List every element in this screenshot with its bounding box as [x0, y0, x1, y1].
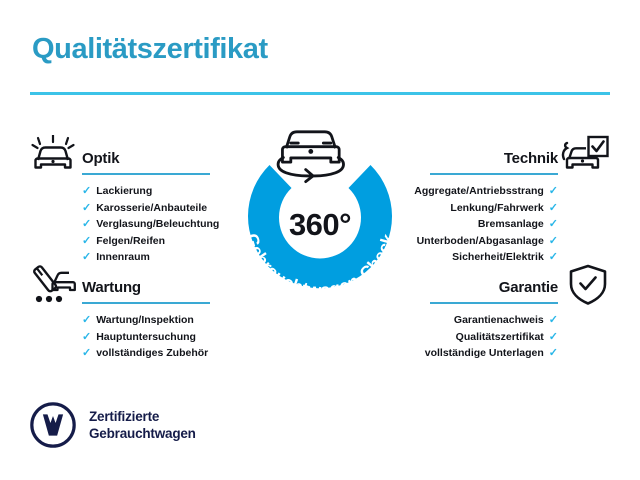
footer-line-1: Zertifizierte: [89, 408, 196, 425]
footer-branding: Zertifizierte Gebrauchtwagen: [30, 402, 196, 448]
checklist-technik: Aggregate/Antriebsstrang✓ Lenkung/Fahrwe…: [430, 183, 558, 266]
checklist-wartung: ✓Wartung/Inspektion ✓Hauptuntersuchung ✓…: [82, 312, 210, 362]
list-item-label: Bremsanlage: [478, 216, 544, 233]
list-item-label: Qualitätszertifikat: [456, 329, 544, 346]
section-garantie: Garantie Garantienachweis✓ Qualitätszert…: [430, 262, 610, 362]
certificate-page: Qualitätszertifikat Optik ✓Lacki: [0, 0, 640, 480]
list-item-label: Hauptuntersuchung: [96, 329, 196, 346]
badge-360-gebrauchtwagen-check: Gebrauchtwagen-Check 360°: [218, 118, 422, 322]
header-divider: [30, 92, 610, 95]
check-icon: ✓: [549, 183, 558, 200]
check-icon: ✓: [82, 233, 91, 250]
vw-logo: [30, 402, 76, 448]
list-item: vollständige Unterlagen✓: [430, 345, 558, 362]
check-icon: ✓: [82, 200, 91, 217]
section-optik: Optik ✓Lackierung ✓Karosserie/Anbauteile…: [30, 133, 210, 266]
list-item-label: Wartung/Inspektion: [96, 312, 194, 329]
list-item-label: Verglasung/Beleuchtung: [96, 216, 219, 233]
list-item-label: vollständige Unterlagen: [425, 345, 544, 362]
check-icon: ✓: [549, 216, 558, 233]
section-divider: [430, 173, 558, 175]
section-divider: [82, 173, 210, 175]
list-item: Unterboden/Abgasanlage✓: [430, 233, 558, 250]
list-item-label: Lenkung/Fahrwerk: [450, 200, 543, 217]
page-title: Qualitätszertifikat: [32, 33, 268, 66]
check-icon: ✓: [549, 233, 558, 250]
list-item: ✓Karosserie/Anbauteile: [82, 200, 210, 217]
check-icon: ✓: [549, 312, 558, 329]
section-technik: Technik Aggregate/Antriebsstrang✓ Lenkun…: [430, 133, 610, 266]
check-icon: ✓: [549, 329, 558, 346]
list-item: ✓vollständiges Zubehör: [82, 345, 210, 362]
list-item-label: Lackierung: [96, 183, 152, 200]
section-divider: [82, 302, 210, 304]
section-wartung: Wartung ✓Wartung/Inspektion ✓Hauptunters…: [30, 262, 210, 362]
checklist-garantie: Garantienachweis✓ Qualitätszertifikat✓ v…: [430, 312, 558, 362]
list-item: ✓Wartung/Inspektion: [82, 312, 210, 329]
list-item: ✓Lackierung: [82, 183, 210, 200]
list-item-label: Garantienachweis: [454, 312, 544, 329]
list-item: Garantienachweis✓: [430, 312, 558, 329]
section-title: Technik: [504, 150, 558, 167]
section-title: Wartung: [82, 279, 141, 296]
list-item: Aggregate/Antriebsstrang✓: [430, 183, 558, 200]
footer-line-2: Gebrauchtwagen: [89, 425, 196, 442]
section-title: Optik: [82, 150, 119, 167]
section-title: Garantie: [499, 279, 558, 296]
list-item-label: Unterboden/Abgasanlage: [417, 233, 544, 250]
section-head-optik: Optik: [30, 133, 210, 175]
check-icon: ✓: [82, 183, 91, 200]
list-item: Bremsanlage✓: [430, 216, 558, 233]
check-icon: ✓: [82, 216, 91, 233]
section-head-technik: Technik: [430, 133, 610, 175]
section-divider: [430, 302, 558, 304]
list-item-label: Karosserie/Anbauteile: [96, 200, 207, 217]
list-item-label: vollständiges Zubehör: [96, 345, 208, 362]
section-head-wartung: Wartung: [30, 262, 210, 304]
check-icon: ✓: [82, 345, 91, 362]
list-item: Lenkung/Fahrwerk✓: [430, 200, 558, 217]
list-item: ✓Verglasung/Beleuchtung: [82, 216, 210, 233]
check-icon: ✓: [549, 345, 558, 362]
list-item-label: Aggregate/Antriebsstrang: [414, 183, 544, 200]
checklist-optik: ✓Lackierung ✓Karosserie/Anbauteile ✓Verg…: [82, 183, 210, 266]
footer-text: Zertifizierte Gebrauchtwagen: [89, 408, 196, 442]
list-item-label: Felgen/Reifen: [96, 233, 165, 250]
check-icon: ✓: [82, 329, 91, 346]
check-icon: ✓: [549, 200, 558, 217]
list-item: ✓Felgen/Reifen: [82, 233, 210, 250]
list-item: ✓Hauptuntersuchung: [82, 329, 210, 346]
list-item: Qualitätszertifikat✓: [430, 329, 558, 346]
check-icon: ✓: [82, 312, 91, 329]
section-head-garantie: Garantie: [430, 262, 610, 304]
car-rotation-icon: [278, 132, 343, 182]
